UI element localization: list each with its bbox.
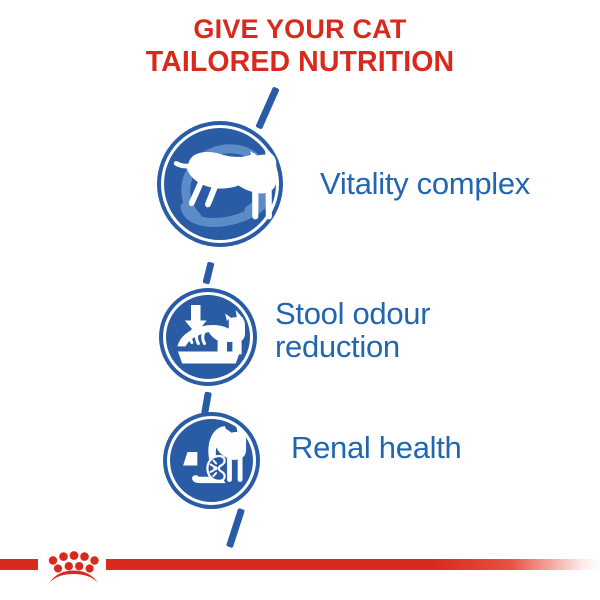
page-title-line-1: GIVE YOUR CAT (0, 14, 600, 46)
page-title-line-2: TAILORED NUTRITION (0, 46, 600, 79)
feature-label-stool-odour-reduction: Stool odour reduction (275, 298, 535, 364)
promo-panel: GIVE YOUR CAT TAILORED NUTRITION Vitalit… (0, 0, 600, 600)
page-title: GIVE YOUR CAT TAILORED NUTRITION (0, 14, 600, 79)
cat-walking-icon (157, 121, 283, 247)
diagonal-dash-icon-2 (201, 392, 212, 415)
feature-label-renal-health: Renal health (291, 432, 551, 465)
diagonal-dash-icon-1 (202, 261, 214, 284)
cat-kidney-icon (163, 412, 260, 509)
diagonal-dash-icon-bottom (226, 508, 245, 548)
royal-canin-crown-logo (42, 551, 104, 585)
feature-label-vitality-complex: Vitality complex (320, 168, 590, 201)
cat-litter-box-arrow-down-icon (159, 288, 257, 386)
